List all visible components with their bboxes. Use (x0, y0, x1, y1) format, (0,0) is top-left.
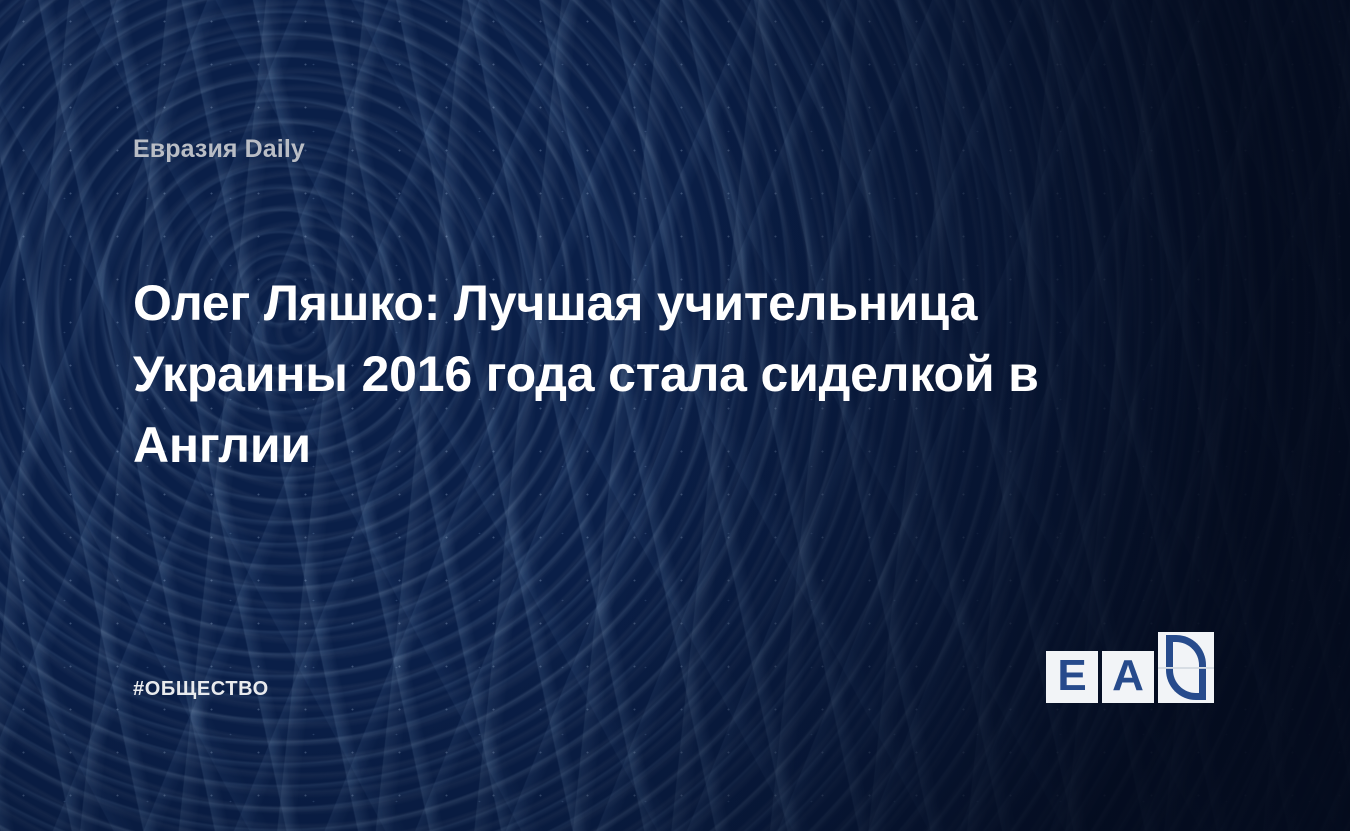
site-name: Евразия Daily (133, 136, 305, 164)
card-content: Евразия Daily Олег Ляшко: Лучшая учитель… (0, 0, 1350, 831)
logo-d-upper-stem (1166, 635, 1173, 667)
page-title: Олег Ляшко: Лучшая учительница Украины 2… (133, 268, 1123, 481)
logo-tile-d (1158, 632, 1214, 703)
social-share-card: Евразия Daily Олег Ляшко: Лучшая учитель… (0, 0, 1350, 831)
logo-d-divider (1158, 667, 1214, 669)
category-tag[interactable]: #ОБЩЕСТВО (133, 678, 269, 701)
logo-tile-a: A (1102, 651, 1154, 703)
eadaily-logo[interactable]: E A (1046, 632, 1218, 703)
logo-tile-e: E (1046, 651, 1098, 703)
logo-d-lower-stem (1199, 668, 1206, 700)
